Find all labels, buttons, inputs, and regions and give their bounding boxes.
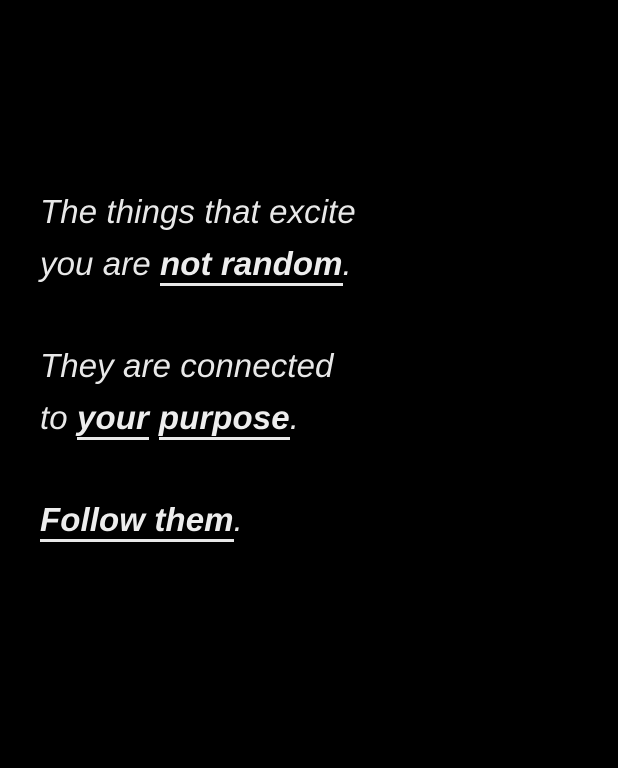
- paragraph-2-emphasis-word-your: your: [77, 401, 149, 440]
- paragraph-2-emphasis-word-purpose: purpose: [159, 401, 290, 440]
- paragraph-3-period: .: [234, 501, 243, 538]
- paragraph-1-period: .: [343, 245, 352, 282]
- quote-paragraph-3: Follow them.: [40, 494, 560, 546]
- quote-paragraph-2: They are connected to yourpurpose.: [40, 340, 560, 444]
- quote-text-block: The things that excite you are not rando…: [40, 186, 560, 546]
- paragraph-1-emphasis: not random: [160, 247, 342, 286]
- paragraph-2-period: .: [290, 399, 299, 436]
- paragraph-3-emphasis: Follow them: [40, 503, 234, 542]
- quote-card: The things that excite you are not rando…: [0, 0, 618, 768]
- quote-paragraph-1: The things that excite you are not rando…: [40, 186, 560, 290]
